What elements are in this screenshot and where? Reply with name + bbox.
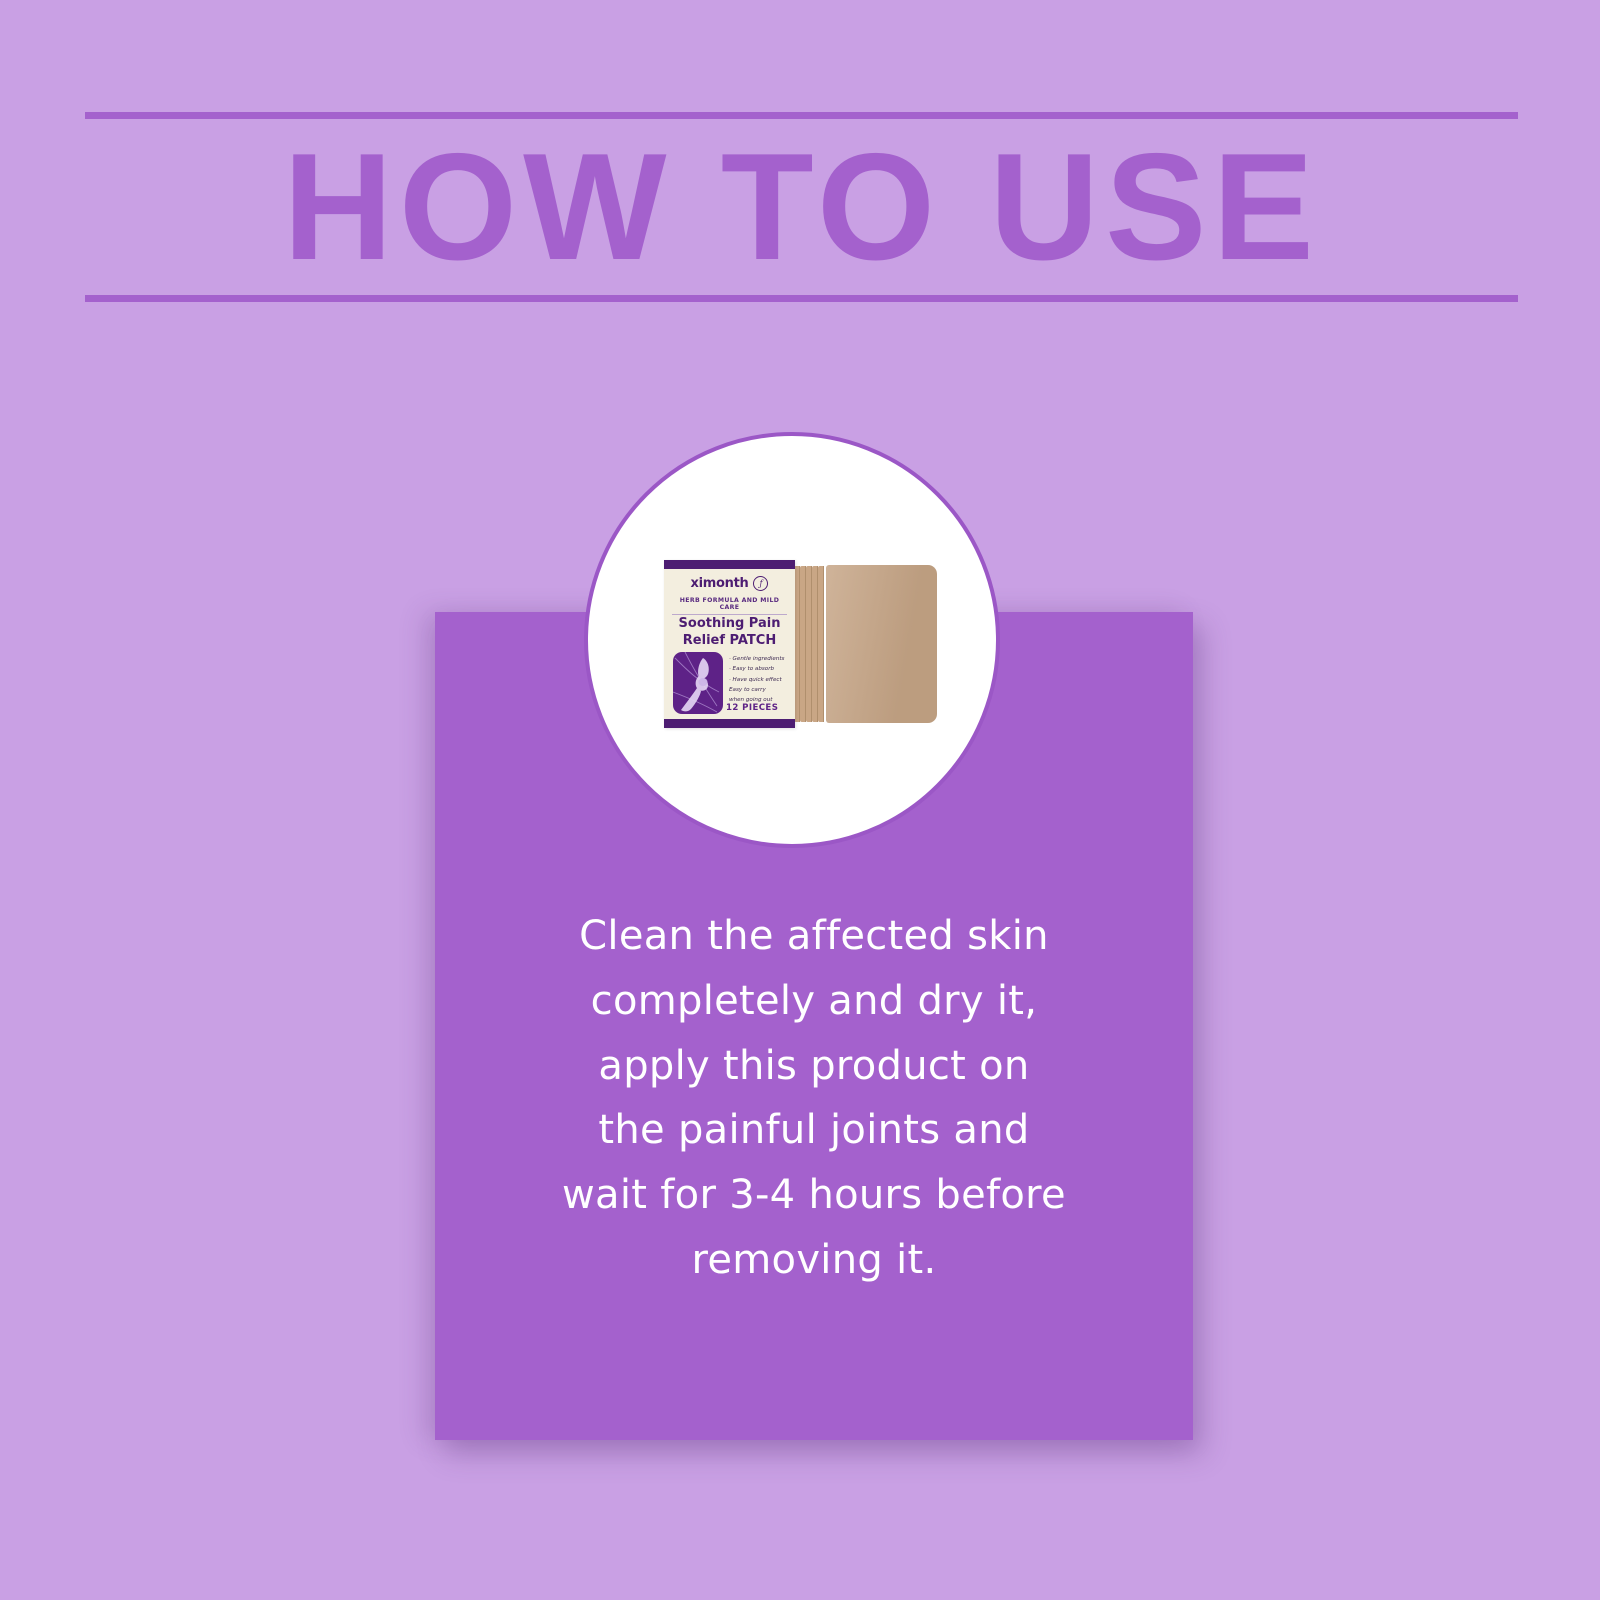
instruction-line: removing it.: [475, 1228, 1153, 1293]
package-front-panel: ximonth ƒ HERB FORMULA AND MILD CARE Soo…: [664, 560, 795, 728]
page-header: HOW TO USE: [85, 112, 1518, 302]
brand-row: ximonth ƒ: [664, 576, 795, 591]
product-name-line1: Soothing Pain: [679, 616, 781, 631]
instruction-text: Clean the affected skin completely and d…: [435, 904, 1193, 1293]
package-band-bottom: [664, 719, 795, 728]
feature-item: · Have quick effect: [729, 675, 791, 685]
pieces-count: 12 PIECES: [726, 703, 778, 713]
instruction-line: completely and dry it,: [475, 969, 1153, 1034]
feature-item: · Easy to absorb: [729, 664, 791, 674]
xray-knee-joint-icon: [673, 652, 723, 714]
page-title: HOW TO USE: [85, 119, 1518, 295]
product-image-circle: ximonth ƒ HERB FORMULA AND MILD CARE Soo…: [584, 432, 1000, 848]
header-rule-bottom: [85, 295, 1518, 302]
header-rule-top: [85, 112, 1518, 119]
brand-name: ximonth: [691, 576, 749, 591]
feature-item: · Gentle ingredients: [729, 654, 791, 664]
patch-stack-icon: [782, 565, 937, 723]
product-name: Soothing Pain Relief PATCH: [670, 615, 789, 649]
instruction-line: Clean the affected skin: [475, 904, 1153, 969]
instruction-line: apply this product on: [475, 1034, 1153, 1099]
seal-badge-icon: ƒ: [753, 576, 768, 591]
package-tagline: HERB FORMULA AND MILD CARE: [672, 597, 787, 615]
instruction-line: wait for 3-4 hours before: [475, 1163, 1153, 1228]
feature-list: · Gentle ingredients · Easy to absorb · …: [729, 654, 791, 706]
instruction-line: the painful joints and: [475, 1098, 1153, 1163]
package-band-top: [664, 560, 795, 569]
patch-front-card: [826, 565, 937, 723]
product-package-artwork: ximonth ƒ HERB FORMULA AND MILD CARE Soo…: [664, 560, 936, 730]
product-name-line2: Relief PATCH: [683, 633, 776, 648]
feature-item: Easy to carry: [729, 685, 791, 695]
